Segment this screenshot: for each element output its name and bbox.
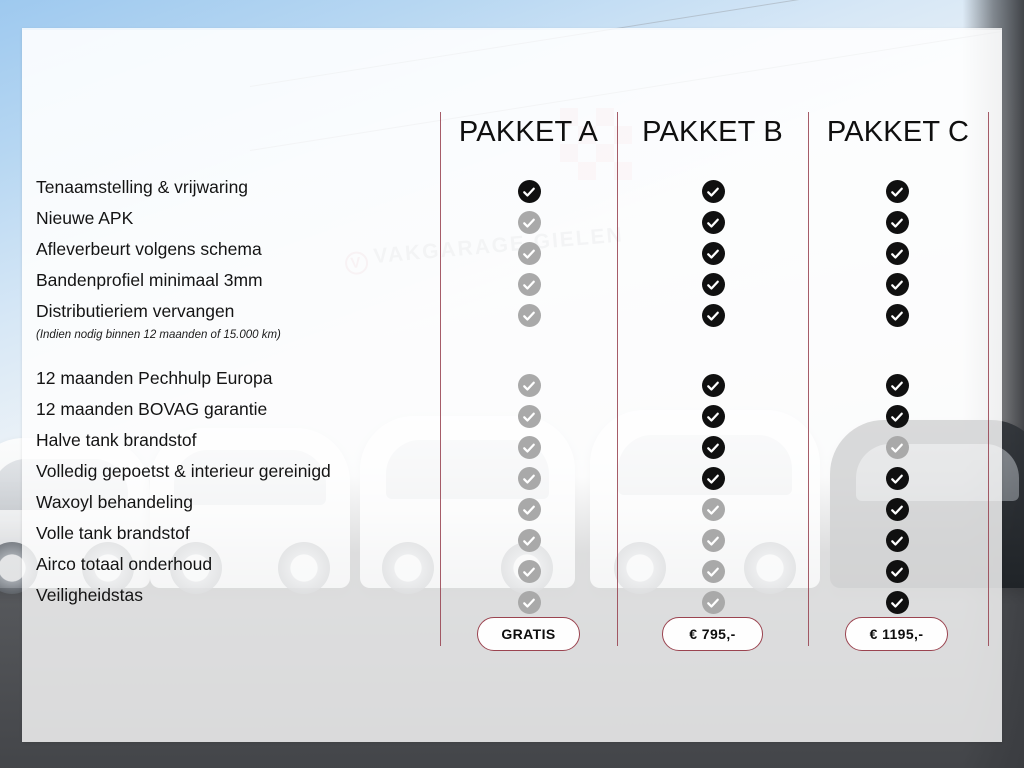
feature-list: Tenaamstelling & vrijwaringNieuwe APKAfl… — [36, 172, 436, 611]
check-cell — [678, 269, 748, 300]
check-cell — [678, 525, 748, 556]
check-cell — [494, 300, 564, 331]
check-cell — [862, 525, 932, 556]
check-cell — [494, 269, 564, 300]
feature-label: Volledig gepoetst & interieur gereinigd — [36, 456, 436, 487]
check-included-icon — [886, 529, 909, 552]
check-cell — [678, 494, 748, 525]
check-column-c — [862, 176, 932, 618]
feature-label: 12 maanden BOVAG garantie — [36, 394, 436, 425]
check-included-icon — [886, 374, 909, 397]
check-excluded-icon — [518, 405, 541, 428]
check-cell — [678, 370, 748, 401]
package-header-b: PAKKET B — [617, 113, 808, 151]
check-included-icon — [702, 467, 725, 490]
check-excluded-icon — [518, 211, 541, 234]
check-excluded-icon — [886, 436, 909, 459]
check-included-icon — [702, 304, 725, 327]
check-cell — [862, 463, 932, 494]
check-excluded-icon — [702, 560, 725, 583]
check-cell — [678, 556, 748, 587]
column-separator-2 — [617, 112, 618, 646]
check-cell — [678, 238, 748, 269]
check-cell — [678, 176, 748, 207]
check-included-icon — [886, 242, 909, 265]
check-note-spacer — [862, 331, 932, 353]
check-included-icon — [886, 560, 909, 583]
check-excluded-icon — [702, 529, 725, 552]
check-included-icon — [702, 211, 725, 234]
check-group-spacer — [678, 353, 748, 370]
check-cell — [862, 207, 932, 238]
check-cell — [494, 207, 564, 238]
package-header-c: PAKKET C — [808, 113, 988, 151]
feature-label: Bandenprofiel minimaal 3mm — [36, 265, 436, 296]
check-included-icon — [886, 405, 909, 428]
check-cell — [494, 238, 564, 269]
check-excluded-icon — [518, 304, 541, 327]
check-excluded-icon — [518, 498, 541, 521]
check-cell — [678, 432, 748, 463]
check-cell — [862, 432, 932, 463]
feature-label: Distributieriem vervangen — [36, 296, 436, 327]
check-included-icon — [886, 211, 909, 234]
check-excluded-icon — [518, 560, 541, 583]
check-excluded-icon — [518, 242, 541, 265]
feature-label: Waxoyl behandeling — [36, 487, 436, 518]
check-note-spacer — [494, 331, 564, 353]
check-cell — [494, 370, 564, 401]
check-included-icon — [702, 180, 725, 203]
check-group-spacer — [494, 353, 564, 370]
check-cell — [862, 494, 932, 525]
check-cell — [862, 176, 932, 207]
check-note-spacer — [678, 331, 748, 353]
check-cell — [494, 525, 564, 556]
check-included-icon — [886, 180, 909, 203]
price-badge-c[interactable]: € 1195,- — [845, 617, 948, 651]
column-separator-1 — [440, 112, 441, 646]
column-separator-4 — [988, 112, 989, 646]
check-included-icon — [886, 498, 909, 521]
feature-label: Veiligheidstas — [36, 580, 436, 611]
check-cell — [494, 463, 564, 494]
check-cell — [862, 300, 932, 331]
column-separator-3 — [808, 112, 809, 646]
check-cell — [494, 176, 564, 207]
feature-label: Tenaamstelling & vrijwaring — [36, 172, 436, 203]
check-cell — [862, 238, 932, 269]
check-cell — [494, 432, 564, 463]
check-included-icon — [886, 273, 909, 296]
check-excluded-icon — [702, 498, 725, 521]
feature-label: 12 maanden Pechhulp Europa — [36, 363, 436, 394]
check-cell — [678, 587, 748, 618]
check-included-icon — [518, 180, 541, 203]
check-included-icon — [886, 304, 909, 327]
check-excluded-icon — [518, 273, 541, 296]
price-badge-b[interactable]: € 795,- — [662, 617, 763, 651]
check-cell — [862, 556, 932, 587]
feature-note: (Indien nodig binnen 12 maanden of 15.00… — [36, 324, 436, 346]
check-included-icon — [702, 436, 725, 459]
check-cell — [862, 370, 932, 401]
check-excluded-icon — [518, 467, 541, 490]
check-cell — [678, 207, 748, 238]
check-included-icon — [886, 467, 909, 490]
check-cell — [678, 300, 748, 331]
check-included-icon — [886, 591, 909, 614]
check-included-icon — [702, 273, 725, 296]
feature-label: Airco totaal onderhoud — [36, 549, 436, 580]
feature-label: Afleverbeurt volgens schema — [36, 234, 436, 265]
check-cell — [494, 587, 564, 618]
check-cell — [862, 269, 932, 300]
feature-label: Halve tank brandstof — [36, 425, 436, 456]
package-header-a: PAKKET A — [440, 113, 617, 151]
check-group-spacer — [862, 353, 932, 370]
feature-group-spacer — [36, 346, 436, 363]
check-cell — [862, 587, 932, 618]
check-column-b — [678, 176, 748, 618]
feature-label: Volle tank brandstof — [36, 518, 436, 549]
check-cell — [678, 463, 748, 494]
check-cell — [494, 401, 564, 432]
check-column-a — [494, 176, 564, 618]
check-excluded-icon — [518, 374, 541, 397]
check-cell — [862, 401, 932, 432]
check-excluded-icon — [518, 529, 541, 552]
check-cell — [494, 494, 564, 525]
check-cell — [678, 401, 748, 432]
check-excluded-icon — [518, 591, 541, 614]
check-included-icon — [702, 242, 725, 265]
check-cell — [494, 556, 564, 587]
feature-label: Nieuwe APK — [36, 203, 436, 234]
check-excluded-icon — [702, 591, 725, 614]
price-badge-a[interactable]: GRATIS — [477, 617, 580, 651]
check-excluded-icon — [518, 436, 541, 459]
check-included-icon — [702, 405, 725, 428]
check-included-icon — [702, 374, 725, 397]
